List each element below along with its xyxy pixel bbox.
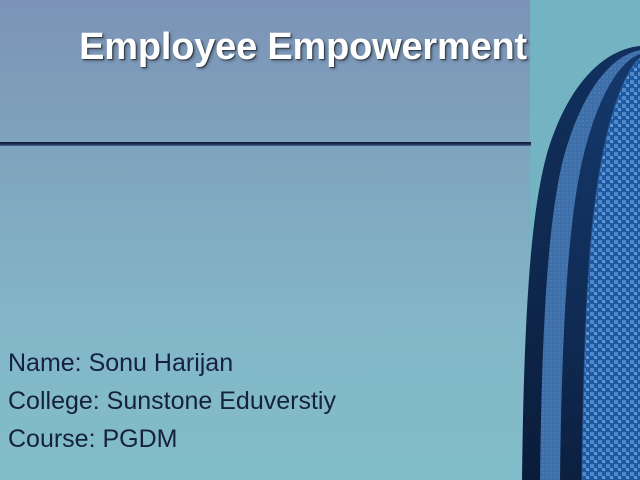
banner-bottom-edge [0, 142, 531, 146]
subtitle-line-name: Name: Sonu Harijan [8, 344, 518, 382]
subtitle-line-college: College: Sunstone Eduverstiy [8, 382, 518, 420]
subtitle-block: Name: Sonu Harijan College: Sunstone Edu… [8, 344, 518, 458]
subtitle-line-course: Course: PGDM [8, 420, 518, 458]
slide-title: Employee Empowerment [40, 24, 527, 71]
title-banner [0, 0, 531, 145]
presentation-slide: Employee Empowerment Name: Sonu Harijan … [0, 0, 640, 480]
